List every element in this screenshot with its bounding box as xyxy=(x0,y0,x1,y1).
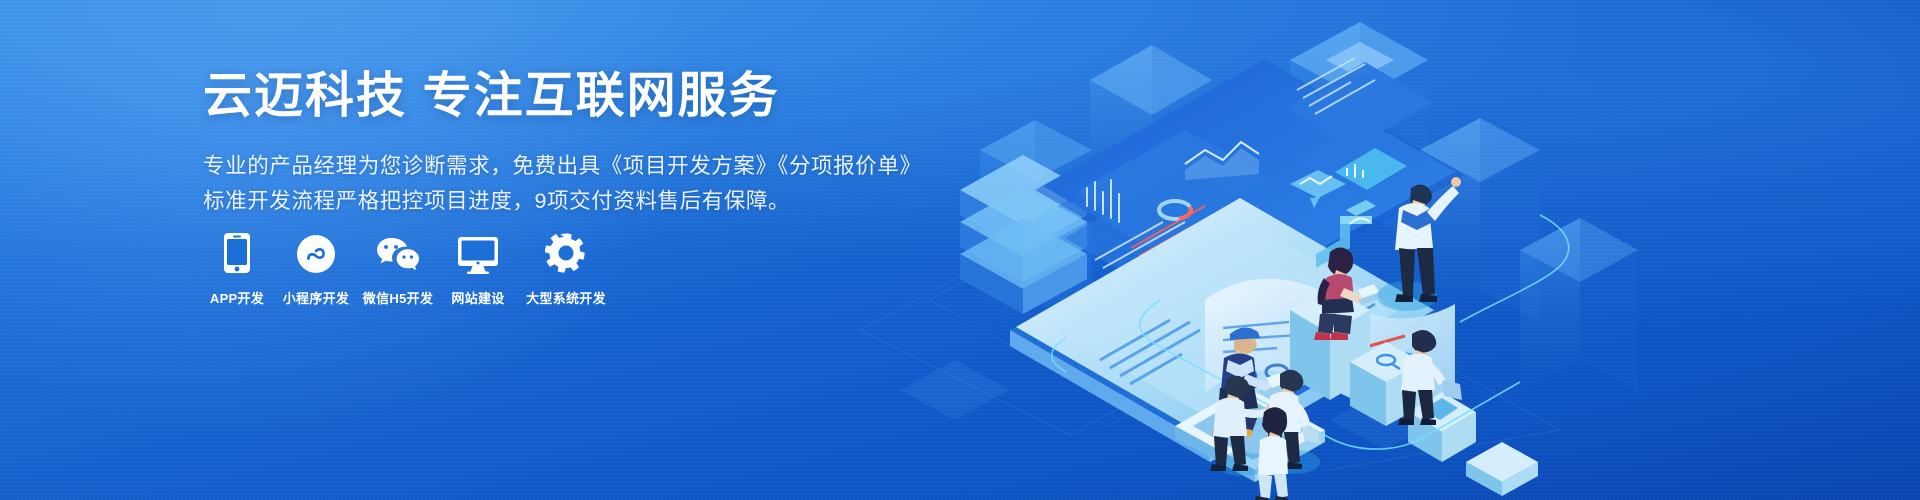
service-label: 微信H5开发 xyxy=(363,288,433,307)
service-item-app[interactable]: APP开发 xyxy=(200,230,274,307)
service-label: 网站建设 xyxy=(451,288,504,307)
wechat-icon xyxy=(375,230,421,274)
service-item-wechat-h5[interactable]: 微信H5开发 xyxy=(358,230,438,307)
promo-banner: 云迈科技 专注互联网服务 专业的产品经理为您诊断需求，免费出具《项目开发方案》《… xyxy=(0,0,1920,500)
banner-subtitle: 专业的产品经理为您诊断需求，免费出具《项目开发方案》《分项报价单》 标准开发流程… xyxy=(203,149,903,219)
illustration-isometric-tech-scene xyxy=(860,0,1920,500)
service-label: APP开发 xyxy=(210,288,264,307)
mini-program-icon xyxy=(296,230,336,274)
gear-icon xyxy=(545,230,587,274)
service-item-large-system[interactable]: 大型系统开发 xyxy=(518,230,614,307)
smartphone-icon xyxy=(223,230,251,274)
service-item-website[interactable]: 网站建设 xyxy=(440,230,516,307)
service-list: APP开发 小程序开发 xyxy=(200,230,616,307)
subtitle-line-1: 专业的产品经理为您诊断需求，免费出具《项目开发方案》《分项报价单》 xyxy=(203,149,903,184)
service-item-mini-program[interactable]: 小程序开发 xyxy=(276,230,356,307)
banner-copy: 云迈科技 专注互联网服务 专业的产品经理为您诊断需求，免费出具《项目开发方案》《… xyxy=(203,72,903,219)
monitor-icon xyxy=(457,230,499,274)
service-label: 大型系统开发 xyxy=(526,288,606,307)
service-label: 小程序开发 xyxy=(283,288,350,307)
subtitle-line-2: 标准开发流程严格把控项目进度，9项交付资料售后有保障。 xyxy=(203,184,903,219)
page-title: 云迈科技 专注互联网服务 xyxy=(203,72,903,121)
